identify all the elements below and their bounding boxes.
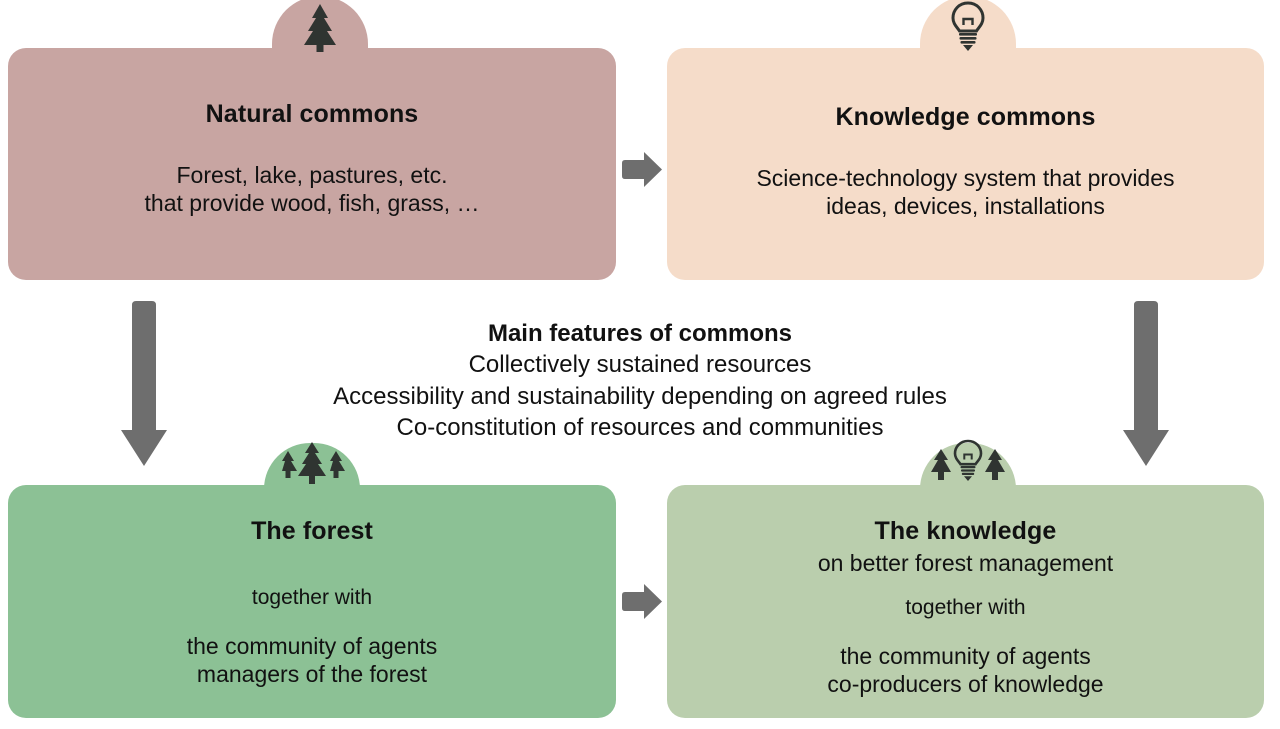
card-natural-commons-body-line1: Forest, lake, pastures, etc.: [145, 161, 480, 189]
main-features-line-3: Co-constitution of resources and communi…: [0, 412, 1280, 443]
card-the-knowledge-connector: together with: [905, 596, 1025, 620]
card-the-knowledge-body-line1: the community of agents: [827, 642, 1103, 670]
card-the-knowledge-body: the community of agents co-producers of …: [827, 642, 1103, 698]
arrow-forest-to-the-knowledge: [620, 582, 664, 627]
card-natural-commons-title: Natural commons: [206, 100, 419, 129]
card-the-forest-body-line1: the community of agents: [187, 632, 438, 660]
card-the-forest-body-line2: managers of the forest: [187, 660, 438, 688]
card-the-knowledge-body-line2: co-producers of knowledge: [827, 670, 1103, 698]
card-the-knowledge-title: The knowledge: [875, 517, 1057, 546]
card-the-forest-body: the community of agents managers of the …: [187, 632, 438, 688]
badge-the-forest: [264, 443, 360, 489]
pine-tree-icon: [298, 2, 342, 52]
card-knowledge-commons-title: Knowledge commons: [835, 103, 1095, 132]
lightbulb-icon: [948, 0, 988, 52]
arrow-natural-to-knowledge: [620, 150, 664, 195]
badge-natural-commons: [272, 0, 368, 52]
card-the-knowledge-subtitle: on better forest management: [818, 550, 1113, 577]
card-natural-commons-body: Forest, lake, pastures, etc. that provid…: [145, 161, 480, 217]
main-features-title: Main features of commons: [0, 318, 1280, 349]
trees-and-lightbulb-icon: [923, 439, 1013, 489]
main-features-line-1: Collectively sustained resources: [0, 349, 1280, 380]
main-features-block: Main features of commons Collectively su…: [0, 318, 1280, 444]
card-knowledge-commons-body: Science-technology system that provides …: [756, 164, 1174, 220]
card-natural-commons[interactable]: Natural commons Forest, lake, pastures, …: [8, 48, 616, 280]
card-knowledge-commons[interactable]: Knowledge commons Science-technology sys…: [667, 48, 1264, 280]
main-features-line-2: Accessibility and sustainability dependi…: [0, 381, 1280, 412]
diagram-canvas: Natural commons Forest, lake, pastures, …: [0, 0, 1280, 729]
card-knowledge-commons-body-line1: Science-technology system that provides: [756, 164, 1174, 192]
card-knowledge-commons-body-line2: ideas, devices, installations: [756, 192, 1174, 220]
card-the-knowledge[interactable]: The knowledge on better forest managemen…: [667, 485, 1264, 718]
badge-the-knowledge: [920, 443, 1016, 489]
card-the-forest[interactable]: The forest together with the community o…: [8, 485, 616, 718]
three-pine-trees-icon: [269, 441, 355, 489]
card-the-forest-connector: together with: [252, 586, 372, 610]
card-natural-commons-body-line2: that provide wood, fish, grass, …: [145, 189, 480, 217]
card-the-forest-title: The forest: [251, 517, 373, 546]
badge-knowledge-commons: [920, 0, 1016, 52]
